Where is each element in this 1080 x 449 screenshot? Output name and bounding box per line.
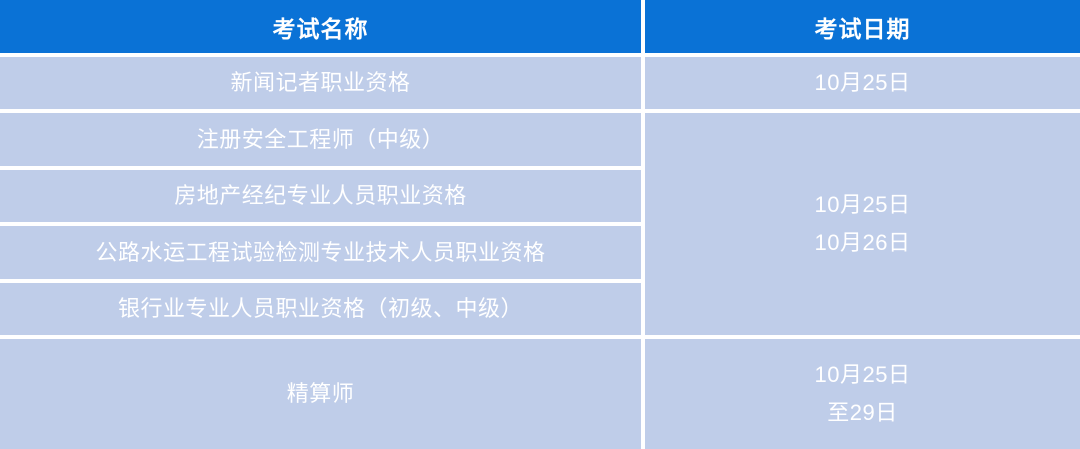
exam-name-cell: 银行业专业人员职业资格（初级、中级）: [0, 283, 645, 339]
column-header-exam-name: 考试名称: [0, 0, 645, 57]
exam-name-cell: 注册安全工程师（中级）: [0, 113, 645, 169]
exam-date-line: 至29日: [655, 397, 1070, 429]
table-row: 注册安全工程师（中级） 10月25日 10月26日: [0, 113, 1080, 169]
exam-name-cell: 公路水运工程试验检测专业技术人员职业资格: [0, 226, 645, 282]
exam-date-line: 10月26日: [655, 227, 1070, 259]
table-row: 精算师 10月25日 至29日: [0, 339, 1080, 449]
exam-name-cell: 精算师: [0, 339, 645, 449]
exam-schedule-table: 考试名称 考试日期 新闻记者职业资格 10月25日 注册安全工程师（中级） 10…: [0, 0, 1080, 449]
exam-name-cell: 新闻记者职业资格: [0, 57, 645, 113]
exam-date-line: 10月25日: [655, 189, 1070, 221]
table-body: 新闻记者职业资格 10月25日 注册安全工程师（中级） 10月25日 10月26…: [0, 57, 1080, 449]
exam-date-line: 10月25日: [655, 67, 1070, 99]
exam-date-line: 10月25日: [655, 359, 1070, 391]
table-header-row: 考试名称 考试日期: [0, 0, 1080, 57]
exam-date-cell: 10月25日: [645, 57, 1080, 113]
exam-date-cell-merged: 10月25日 10月26日: [645, 113, 1080, 339]
exam-date-cell: 10月25日 至29日: [645, 339, 1080, 449]
table-row: 新闻记者职业资格 10月25日: [0, 57, 1080, 113]
exam-name-cell: 房地产经纪专业人员职业资格: [0, 170, 645, 226]
table-header: 考试名称 考试日期: [0, 0, 1080, 57]
column-header-exam-date: 考试日期: [645, 0, 1080, 57]
